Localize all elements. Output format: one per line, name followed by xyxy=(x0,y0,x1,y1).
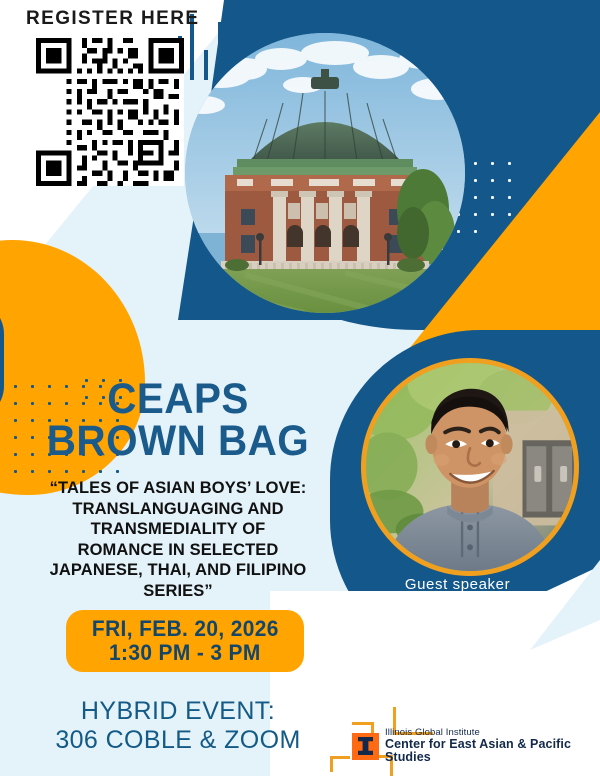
illinois-block-i-icon xyxy=(352,733,379,760)
event-date: FRI, FEB. 20, 2026 xyxy=(92,617,279,641)
event-format-line-2: 306 COBLE & ZOOM xyxy=(10,726,346,755)
event-format-line-1: HYBRID EVENT: xyxy=(10,697,346,726)
speaker-name: CHEENO MARLO M. SAYUNO xyxy=(336,596,578,640)
organization-logo[interactable]: Illinois Global Institute Center for Eas… xyxy=(352,728,600,765)
speaker-affiliation-line: Information xyxy=(330,691,585,707)
main-text-column: CEAPS BROWN BAG “TALES OF ASIAN BOYS’ LO… xyxy=(8,378,348,601)
talk-title-line: JAPANESE, THAI, AND FILIPINO xyxy=(20,560,336,580)
event-poster: REGISTER HERE xyxy=(0,0,600,776)
auditorium-photo xyxy=(185,33,465,313)
guest-speaker-label: Guest speaker xyxy=(330,576,585,593)
bracket-decoration-far-left xyxy=(330,756,350,772)
speaker-affiliation-line: Sciences xyxy=(330,707,585,723)
event-time: 1:30 PM - 3 PM xyxy=(109,641,261,665)
talk-title-line: TRANSLANGUAGING AND xyxy=(20,499,336,519)
logo-org-line-2: Center for East Asian & Pacific Studies xyxy=(385,738,600,765)
speaker-affiliation-line: Postdoctoral xyxy=(330,642,585,658)
talk-title-line: SERIES” xyxy=(20,581,336,601)
speaker-affiliation-line: Research Associate xyxy=(330,658,585,674)
talk-title-line: “TALES OF ASIAN BOYS’ LOVE: xyxy=(20,478,336,498)
speaker-portrait-photo xyxy=(361,358,579,576)
title-line-1: CEAPS xyxy=(18,378,338,420)
register-heading: REGISTER HERE xyxy=(26,8,208,30)
talk-title-line: ROMANCE IN SELECTED xyxy=(20,540,336,560)
title-line-2: BROWN BAG xyxy=(18,420,338,462)
talk-title-line: TRANSMEDIALITY OF xyxy=(20,519,336,539)
page-title: CEAPS BROWN BAG xyxy=(18,378,338,462)
event-datetime-badge: FRI, FEB. 20, 2026 1:30 PM - 3 PM xyxy=(66,610,304,672)
register-block: REGISTER HERE xyxy=(22,8,208,191)
speaker-info: Guest speaker CHEENO MARLO M. SAYUNO Pos… xyxy=(330,576,585,723)
speaker-affiliation-line: School of xyxy=(330,674,585,690)
talk-title: “TALES OF ASIAN BOYS’ LOVE: TRANSLANGUAG… xyxy=(20,478,336,601)
event-format: HYBRID EVENT: 306 COBLE & ZOOM xyxy=(10,697,346,754)
speaker-affiliation: Postdoctoral Research Associate School o… xyxy=(330,642,585,723)
qr-code-icon[interactable] xyxy=(36,38,184,186)
